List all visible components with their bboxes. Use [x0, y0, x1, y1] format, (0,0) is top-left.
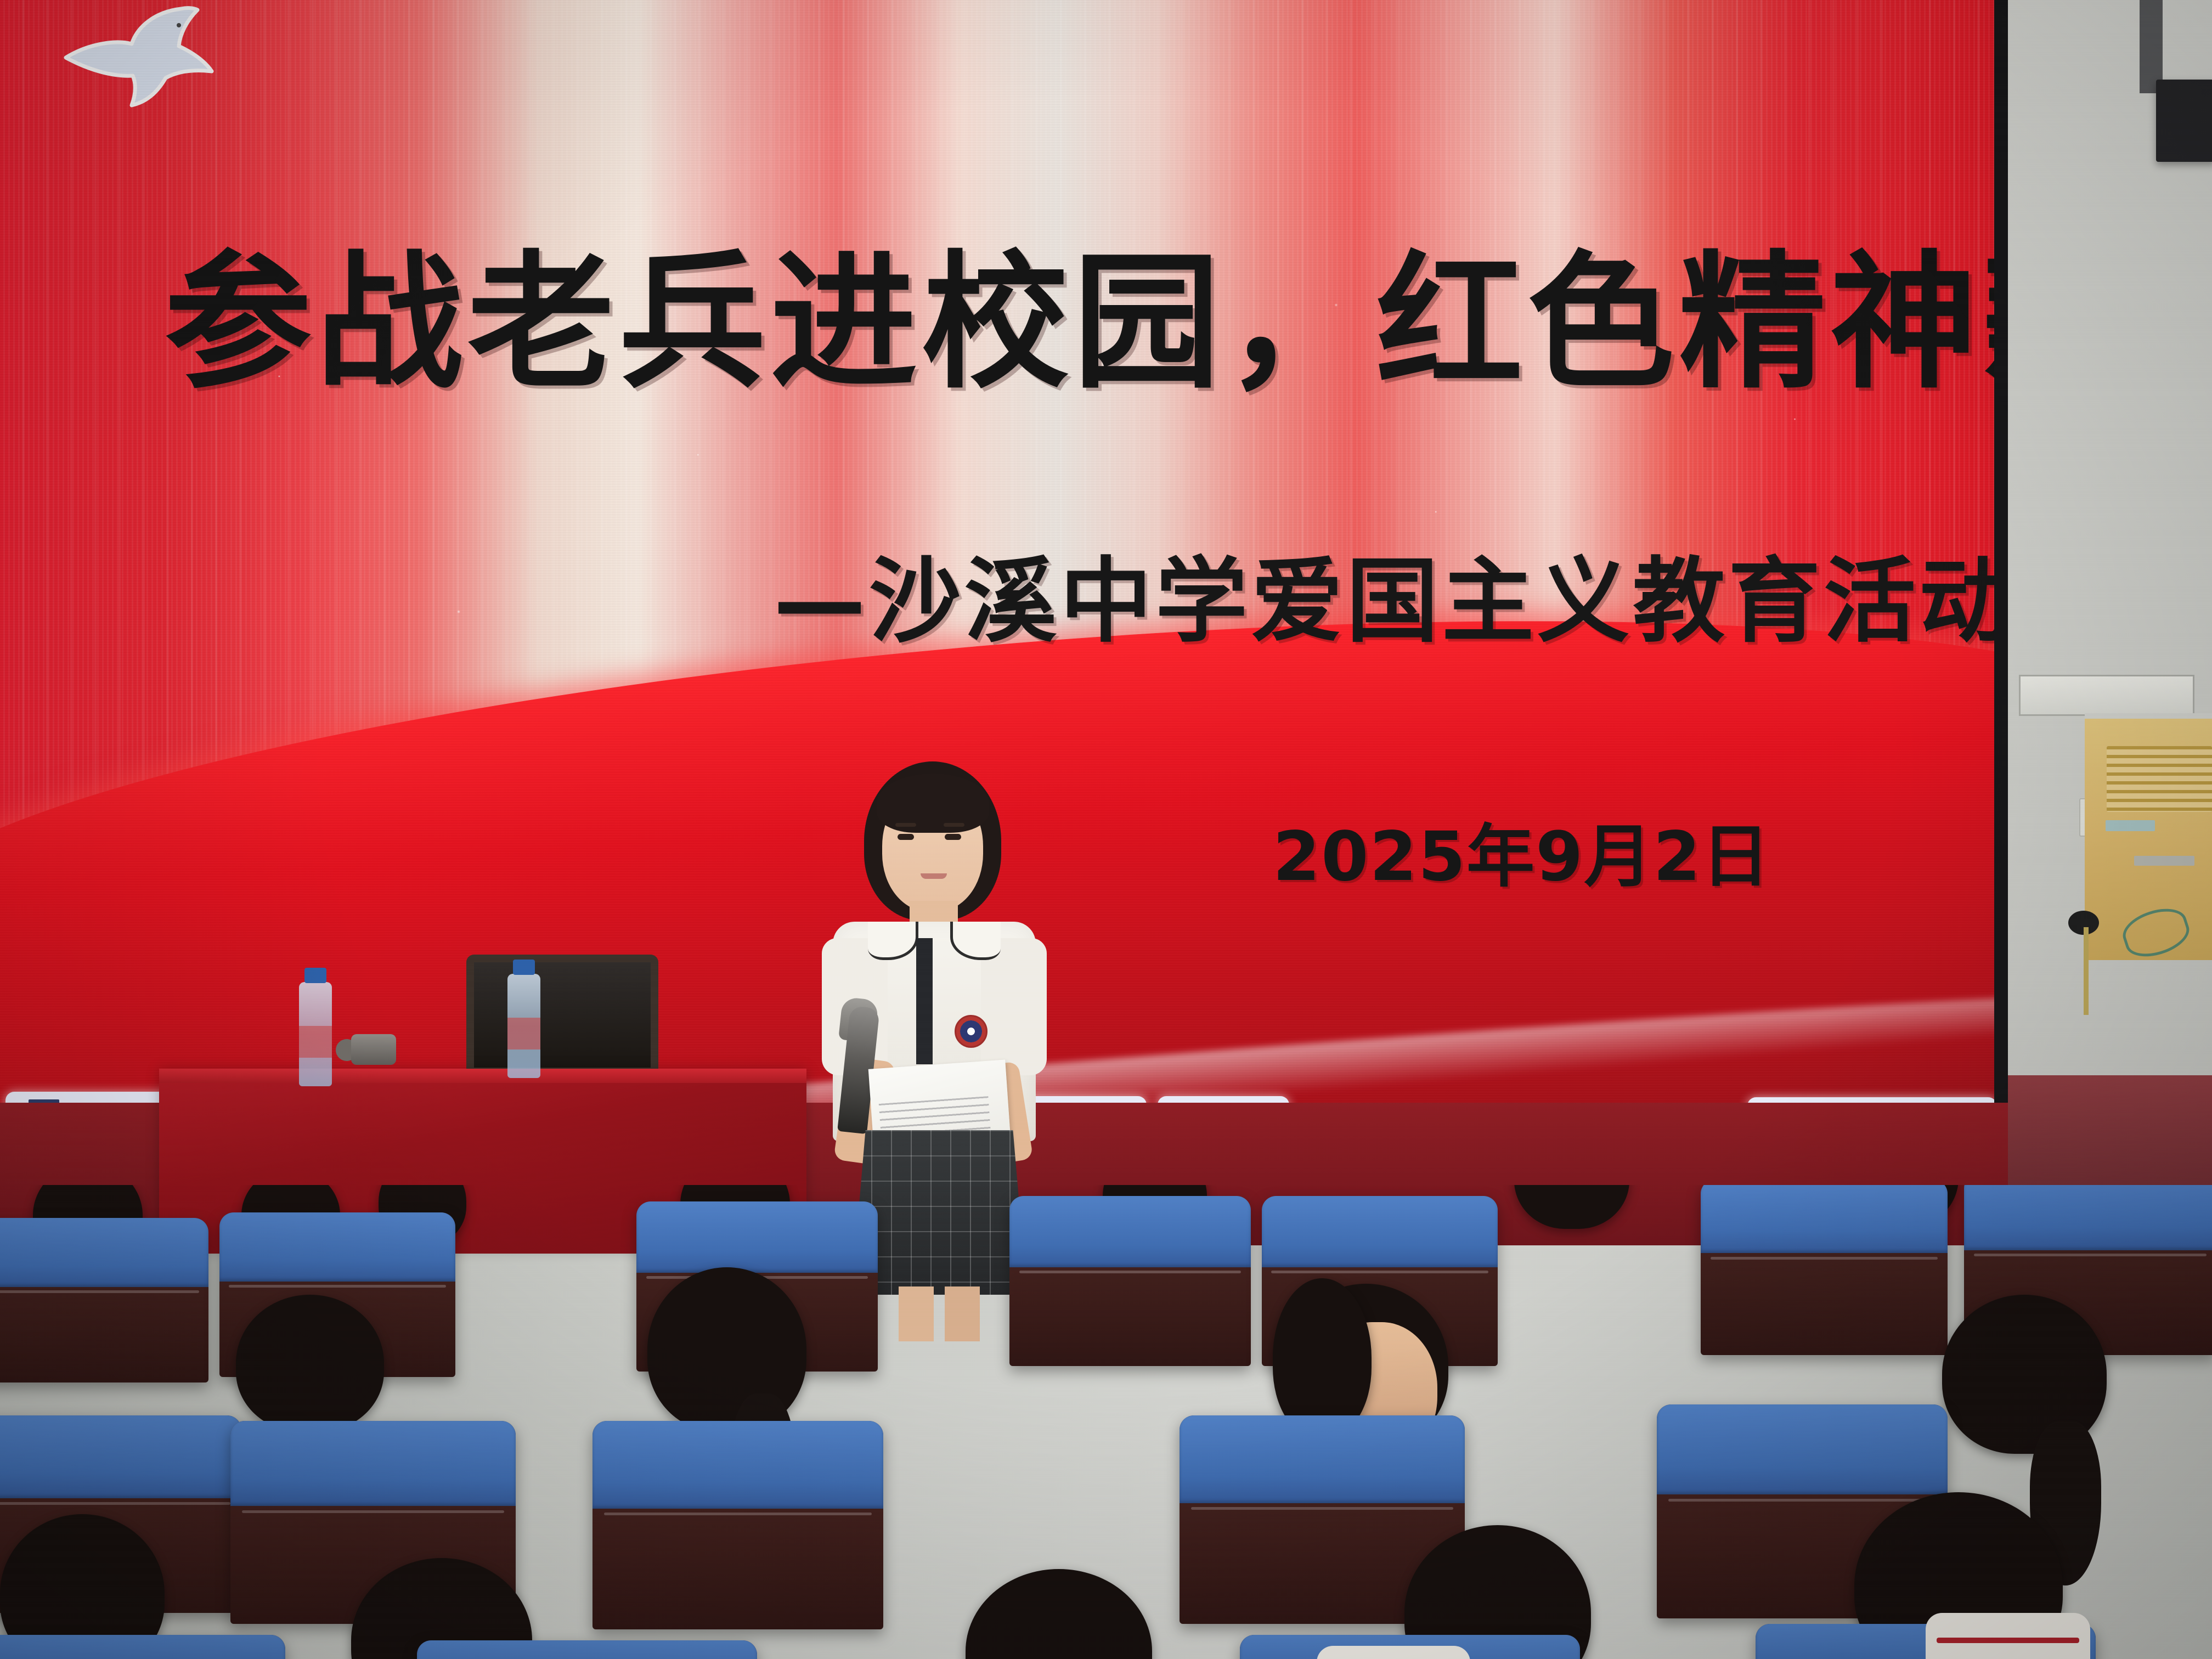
audience-seating [0, 1185, 2212, 1659]
seat-back [0, 1218, 208, 1287]
table-microphone [351, 1034, 396, 1065]
seat-back [1262, 1196, 1498, 1267]
seat-back [1180, 1415, 1465, 1503]
presenter-fringe [877, 774, 989, 833]
presenter-eye-left [898, 834, 914, 840]
seat-trim [0, 1502, 230, 1505]
audience-uniform [1317, 1646, 1470, 1659]
stage-floor-right [1997, 1075, 2212, 1196]
auditorium-seat [1701, 1185, 1948, 1355]
auditorium-seat [0, 1635, 285, 1659]
led-subtitle: —沙溪中学爱国主义教育活动 [774, 527, 1994, 660]
presenter-mouth [921, 873, 947, 879]
water-bottle-left [299, 982, 332, 1086]
school-emblem-badge [955, 1015, 988, 1048]
audience-head [1514, 1185, 1629, 1229]
presenter-eyebrow-right [944, 823, 964, 827]
seat-trim [1019, 1271, 1242, 1273]
seat-back [230, 1421, 516, 1506]
seat-trim [229, 1285, 446, 1288]
auditorium-seat [592, 1421, 883, 1629]
ac-sticker [2106, 820, 2155, 831]
wall-mounted-speaker [2156, 80, 2212, 162]
audience-hair [1273, 1278, 1372, 1437]
bottle-cap-icon [304, 968, 326, 983]
seat-trim [1668, 1499, 1936, 1502]
seat-back [0, 1635, 285, 1659]
av-control-panel [2019, 675, 2194, 716]
ac-vent-grill [2107, 746, 2212, 812]
floor-microphone-stand [2084, 927, 2089, 1015]
audience-head [966, 1569, 1152, 1659]
seat-back [592, 1421, 883, 1509]
seat-trim [604, 1513, 872, 1515]
seat-back [0, 1415, 241, 1498]
seat-back [1657, 1404, 1948, 1494]
seat-back [636, 1201, 878, 1273]
presenter-shirt-placket [916, 938, 933, 1064]
seat-back [1964, 1185, 2212, 1250]
led-title: 参战老兵进校园，红色精神薪火传 [165, 250, 1865, 397]
bottle-label [507, 1018, 540, 1049]
seat-back [417, 1640, 757, 1659]
seat-trim [1271, 1271, 1488, 1273]
bottle-cap-icon [513, 960, 535, 975]
water-bottle-right [507, 974, 540, 1078]
seat-trim [1191, 1507, 1453, 1510]
auditorium-seat [1009, 1196, 1251, 1366]
photo-scene: 参战老兵进校园，红色精神薪火传 —沙溪中学爱国主义教育活动 2025年9月2日 … [0, 0, 2212, 1659]
audience-head [236, 1295, 384, 1432]
led-date: 2025年9月2日 [1273, 801, 1771, 900]
head-table-top-edge [159, 1069, 806, 1083]
seat-trim [1974, 1254, 2206, 1256]
seat-back [219, 1212, 455, 1282]
uniform-stripe [1937, 1638, 2079, 1643]
auditorium-seat [417, 1640, 757, 1659]
presenter-eye-right [945, 834, 961, 840]
seat-trim [242, 1510, 504, 1513]
presenter-eyebrow-left [895, 823, 916, 827]
seat-trim [0, 1290, 199, 1293]
seat-back [1009, 1196, 1251, 1267]
presider-chair [466, 955, 658, 1075]
bottle-label [299, 1026, 332, 1058]
auditorium-seat [0, 1218, 208, 1383]
seat-trim [1711, 1257, 1938, 1260]
seat-back [1701, 1185, 1948, 1253]
audience-uniform [1926, 1613, 2090, 1659]
ac-nameplate [2134, 856, 2194, 866]
